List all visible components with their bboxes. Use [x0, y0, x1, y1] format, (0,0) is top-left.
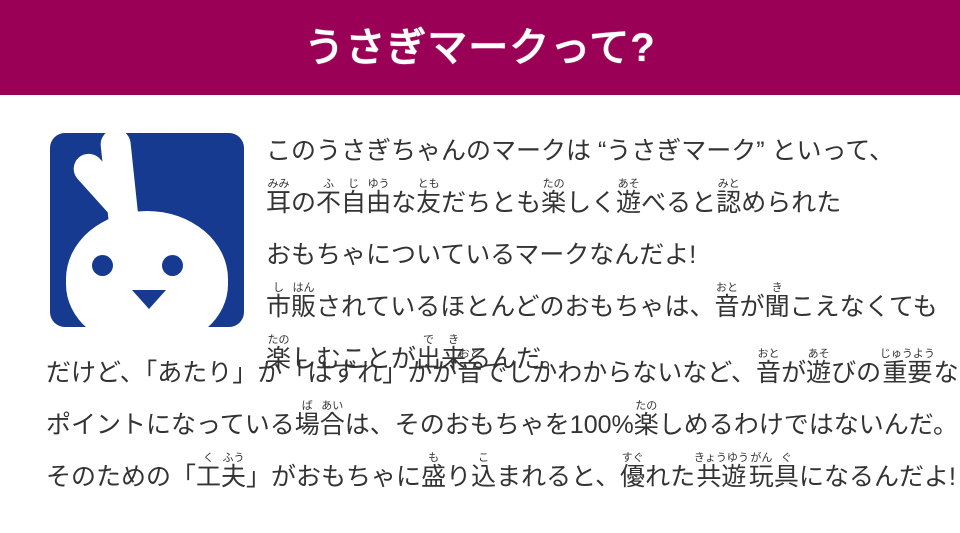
text-segment: そのための「 — [46, 463, 196, 491]
furigana: あそ — [616, 178, 641, 190]
text-segment: れた — [645, 463, 695, 491]
text-segment: まれると、 — [496, 463, 620, 491]
furigana: とも — [416, 178, 441, 190]
text-segment: な — [391, 189, 416, 217]
text-segment: が — [781, 359, 806, 387]
line-1: このうさぎちゃんのマークは “うさぎマーク” といって、 — [266, 126, 946, 164]
furigana: きょうゆう — [694, 452, 749, 464]
text-segment: になるんだよ! — [799, 463, 956, 491]
text-segment: べると — [641, 189, 716, 217]
furigana: たの — [541, 178, 566, 190]
ruby-group: 重要じゅうよう — [881, 359, 934, 387]
text-segment: ポイントになっている — [46, 411, 295, 439]
line-8: そのための「工く夫ふう」がおもちゃに盛もり込こまれると、優すぐれた共遊きょうゆう… — [46, 452, 951, 490]
furigana: じゅうよう — [880, 348, 935, 360]
ruby-group: 認みと — [716, 189, 741, 217]
ruby-group: 工く — [196, 463, 221, 491]
text-segment: められた — [741, 189, 841, 217]
furigana: あそ — [806, 348, 831, 360]
ruby-group: 場ば — [295, 411, 320, 439]
text-segment: 」がおもちゃに — [246, 463, 421, 491]
ruby-group: 楽たの — [541, 189, 566, 217]
text-segment: といって、 — [765, 137, 894, 165]
furigana: ゆう — [366, 178, 391, 190]
text-segment: な — [934, 359, 959, 387]
furigana: おと — [756, 348, 781, 360]
text-segment: だけど、「あたり」か「はずれ」かが — [46, 359, 457, 387]
ruby-group: 合あい — [320, 411, 345, 439]
furigana: ふう — [221, 452, 246, 464]
text-segment: びの — [831, 359, 881, 387]
rabbit-eye-left-icon — [92, 255, 113, 276]
rabbit-head-icon — [66, 211, 228, 327]
ruby-group: 友とも — [416, 189, 441, 217]
text-segment: は、そのおもちゃを100% — [345, 411, 634, 439]
furigana: おと — [457, 348, 482, 360]
furigana: たの — [266, 334, 291, 346]
usagi-mark-logo — [50, 133, 244, 327]
furigana: たの — [634, 400, 659, 412]
ruby-group: 由ゆう — [366, 189, 391, 217]
ruby-group: 不ふ — [316, 189, 341, 217]
text-segment: しく — [566, 189, 616, 217]
ruby-group: 音おと — [715, 293, 740, 321]
furigana: く — [196, 452, 221, 464]
ruby-group: 音おと — [457, 359, 482, 387]
furigana: おと — [715, 282, 740, 294]
furigana: し — [266, 282, 291, 294]
text-segment: の — [291, 189, 316, 217]
ruby-group: 遊あそ — [616, 189, 641, 217]
ruby-group: 盛も — [421, 463, 446, 491]
ruby-group: 耳みみ — [266, 189, 291, 217]
line-2: 耳みみの不ふ自じ由ゆうな友ともだちとも楽たのしく遊あそべると認みとめられた — [266, 178, 946, 216]
text-segment: しめるわけではないんだ。 — [659, 411, 958, 439]
ruby-group: 音おと — [756, 359, 781, 387]
furigana: がん — [749, 452, 774, 464]
furigana: き — [765, 282, 790, 294]
line-7: ポイントになっている場ば合あいは、そのおもちゃを100%楽たのしめるわけではない… — [46, 400, 951, 438]
text-segment: り — [446, 463, 471, 491]
line-4: 市し販はんされているほとんどのおもちゃは、音おとが聞きこえなくても — [266, 282, 946, 320]
text-segment: だちとも — [441, 189, 541, 217]
ruby-group: 込こ — [471, 463, 496, 491]
page-title: うさぎマークって? — [304, 28, 655, 68]
line-3: おもちゃについているマークなんだよ! — [266, 230, 946, 268]
furigana: はん — [291, 282, 316, 294]
furigana: ふ — [316, 178, 341, 190]
furigana: き — [441, 334, 466, 346]
furigana: ば — [295, 400, 320, 412]
text-segment: こえなくても — [790, 293, 938, 321]
furigana: ぐ — [774, 452, 799, 464]
ruby-group: 楽たの — [634, 411, 659, 439]
furigana: じ — [341, 178, 366, 190]
line-6: だけど、「あたり」か「はずれ」かが音おとでしかわからないなど、音おとが遊あそびの… — [46, 348, 951, 386]
ruby-group: 自じ — [341, 189, 366, 217]
text-segment: おもちゃについているマークなんだよ! — [266, 241, 696, 269]
text-segment: このうさぎちゃんのマークは — [266, 137, 598, 165]
title-banner: うさぎマークって? — [0, 0, 960, 95]
text-segment: でしかわからないなど、 — [482, 359, 756, 387]
ruby-group: 市し — [266, 293, 291, 321]
furigana: で — [416, 334, 441, 346]
ruby-group: 具ぐ — [774, 463, 799, 491]
text-segment: “うさぎマーク” — [598, 137, 765, 165]
paragraph-lower: だけど、「あたり」か「はずれ」かが音おとでしかわからないなど、音おとが遊あそびの… — [46, 348, 951, 490]
furigana: みみ — [266, 178, 291, 190]
ruby-group: 聞き — [765, 293, 790, 321]
ruby-group: 共遊きょうゆう — [695, 463, 749, 491]
text-segment: されているほとんどのおもちゃは、 — [316, 293, 715, 321]
furigana: すぐ — [620, 452, 645, 464]
furigana: も — [421, 452, 446, 464]
ruby-group: 販はん — [291, 293, 316, 321]
ruby-group: 夫ふう — [221, 463, 246, 491]
ruby-group: 玩がん — [749, 463, 774, 491]
furigana: みと — [716, 178, 741, 190]
ruby-group: 遊あそ — [806, 359, 831, 387]
logo-plate — [50, 133, 244, 327]
text-segment: が — [740, 293, 765, 321]
rabbit-nose-icon — [132, 290, 166, 309]
paragraph-upper: このうさぎちゃんのマークは “うさぎマーク” といって、耳みみの不ふ自じ由ゆうな… — [266, 126, 946, 372]
furigana: あい — [320, 400, 345, 412]
rabbit-eye-right-icon — [162, 255, 183, 276]
furigana: こ — [471, 452, 496, 464]
ruby-group: 優すぐ — [620, 463, 645, 491]
